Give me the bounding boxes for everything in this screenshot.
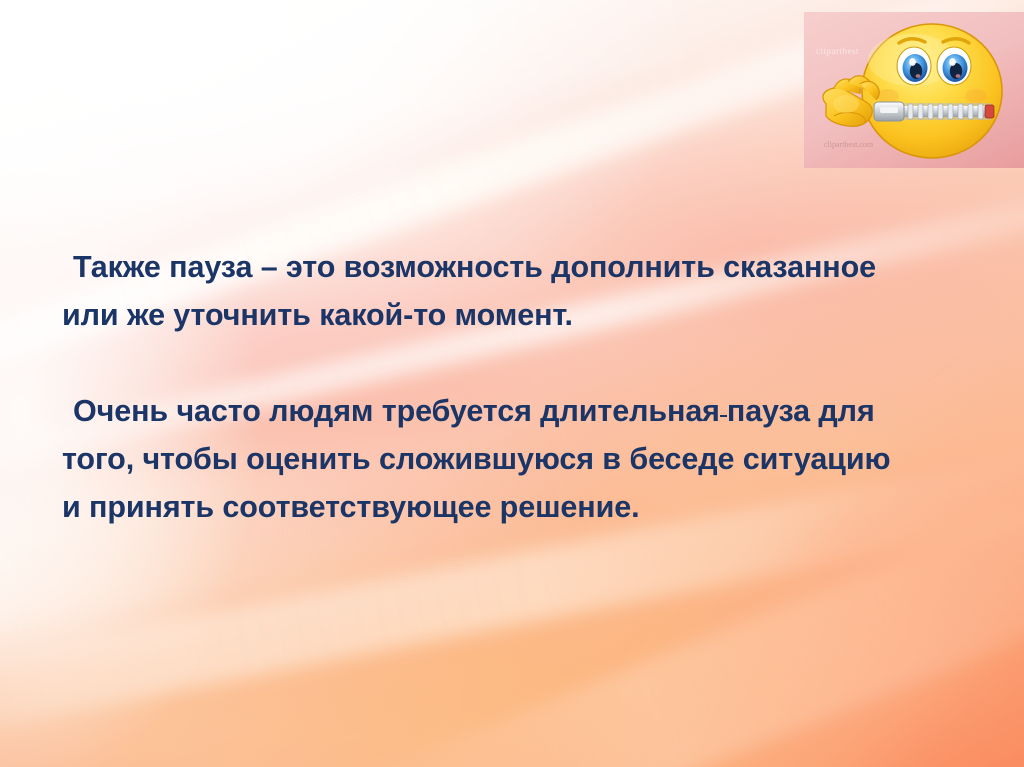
paragraph-spacer	[62, 339, 974, 387]
zipper-mouth-emoji-icon	[804, 12, 1024, 168]
presentation-slide: clipartbest clipartbest.com	[0, 0, 1024, 767]
paragraph-1-line-1: Также пауза – это возможность дополнить …	[62, 243, 974, 291]
paragraph-2-line-1: Очень часто людям требуется длительнаяпа…	[62, 387, 974, 435]
underscore-gap	[720, 415, 727, 417]
p2-l3-text: и принять соответствующее решение.	[62, 490, 639, 524]
p2-l1a-text: Очень часто людям требуется длительная	[73, 394, 720, 428]
paragraph-2-line-2: того, чтобы оценить сложившуюся в беседе…	[62, 435, 974, 483]
p2-l2-text: того, чтобы оценить сложившуюся в беседе…	[62, 442, 890, 476]
slide-body-text: Также пауза – это возможность дополнить …	[62, 243, 974, 531]
paragraph-1-line-2: или же уточнить какой-то момент.	[62, 291, 974, 339]
p1-l1-text: Также пауза – это возможность дополнить …	[73, 250, 876, 284]
p1-l2-text: или же уточнить какой-то момент.	[62, 298, 573, 332]
paragraph-2-line-3: и принять соответствующее решение.	[62, 483, 974, 531]
p2-l1b-text: пауза для	[727, 394, 875, 428]
zipper-mouth-emoji-image: clipartbest clipartbest.com	[804, 12, 1024, 168]
